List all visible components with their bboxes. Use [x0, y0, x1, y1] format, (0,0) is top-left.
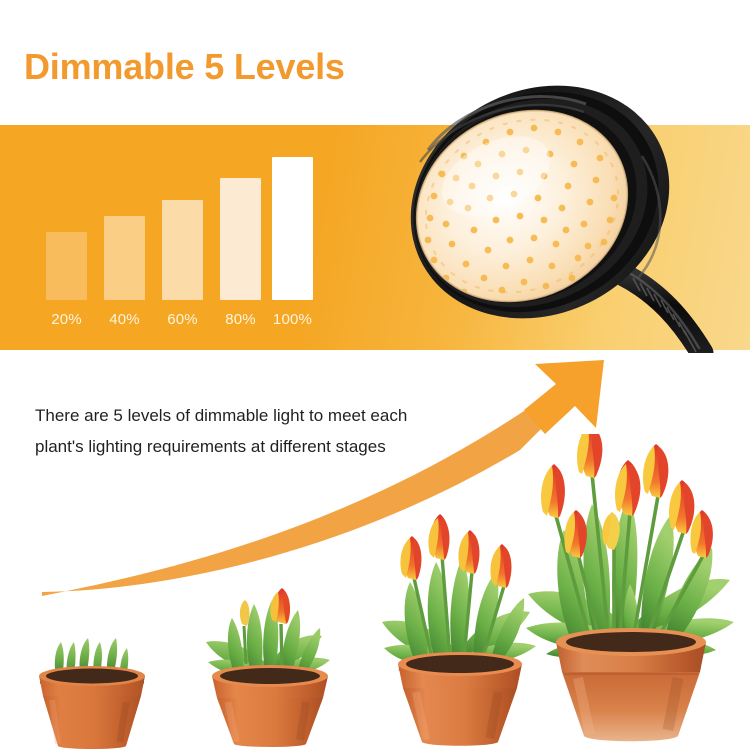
dimming-label-40: 40% [97, 311, 153, 328]
dimming-bar-40 [104, 216, 145, 300]
terracotta-pot [212, 665, 328, 747]
led-grow-light [390, 78, 750, 353]
arrow-head [524, 360, 604, 434]
dimming-bar-80 [220, 178, 261, 300]
product-infographic: Dimmable 5 Levels 20%40%60%80%100% [0, 0, 750, 750]
page-title: Dimmable 5 Levels [24, 46, 345, 88]
dimming-bar-20 [46, 232, 87, 300]
plant-stage-1-sprouts [22, 604, 162, 750]
dimming-label-60: 60% [155, 311, 211, 328]
plant-stage-4-bloom [518, 434, 744, 750]
terracotta-pot [556, 628, 706, 741]
dimming-label-100: 100% [265, 311, 321, 328]
terracotta-pot [398, 652, 522, 746]
terracotta-pot [39, 666, 145, 749]
plant-stage-2-young [192, 568, 348, 750]
dimming-bar-100 [272, 157, 313, 300]
dimming-label-80: 80% [213, 311, 269, 328]
dimming-label-20: 20% [39, 311, 95, 328]
dimming-bar-60 [162, 200, 203, 300]
